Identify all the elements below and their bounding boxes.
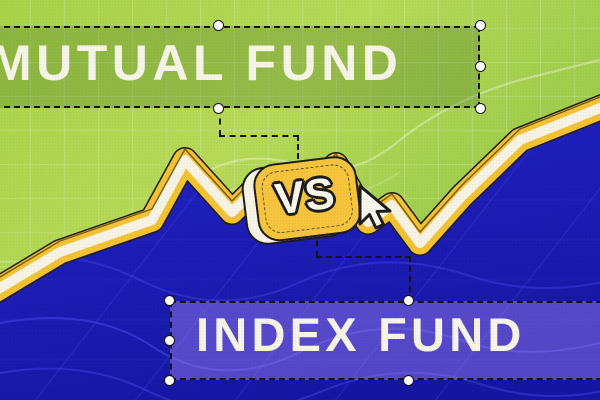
thumbnail-canvas: MUTUAL FUND INDEX FUND VS	[0, 0, 600, 400]
grain-overlay	[0, 0, 600, 400]
